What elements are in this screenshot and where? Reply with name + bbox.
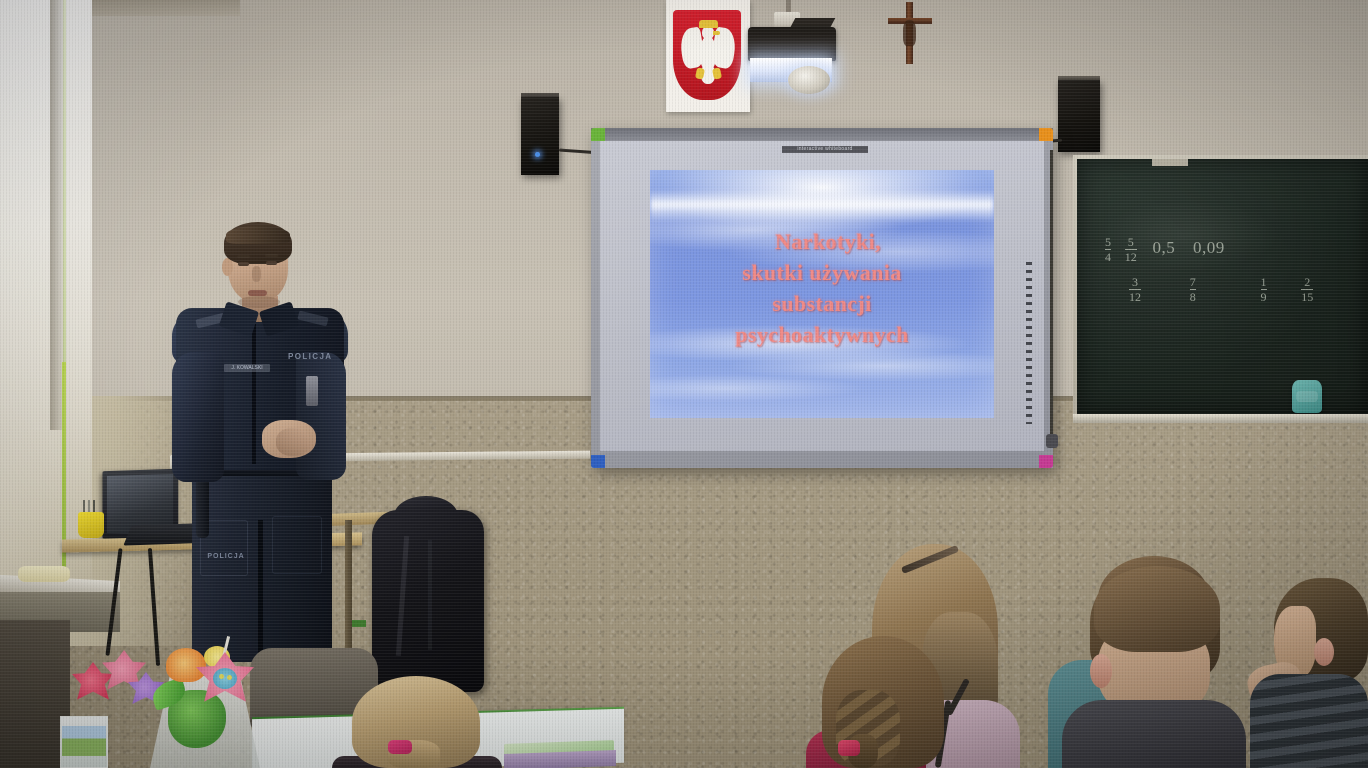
sill-object [18,566,70,582]
speaker-power-led-icon [535,152,540,157]
chalk-fraction-3: 3 12 [1129,276,1141,303]
officer-jacket-placket [252,324,256,464]
eagle-crown-icon [699,20,718,28]
officer-eye-right [266,261,277,265]
chalkboard-clip [1152,159,1188,166]
whiteboard-corner-blue [591,455,605,468]
eagle-beak-icon [713,31,720,35]
projector-body [748,27,836,61]
flower-center-dot-1 [219,674,224,679]
chalk-fraction-4: 7 8 [1190,276,1196,303]
officer-trouser-pocket-right [272,516,322,574]
classroom-photo: interactive whiteboard Narkotyki, skutki… [0,0,1368,768]
officer-eyebrow-left [237,255,250,258]
flower-center-dot-2 [227,675,232,680]
student-front-girl-hair-tie [388,740,412,754]
projected-slide: Narkotyki, skutki używania substancji ps… [650,170,994,418]
chalk-fraction-1: 5 4 [1105,236,1111,263]
notebook-purple[interactable] [504,750,616,768]
chalk-row-2: 3 12 7 8 1 9 2 15 [1124,276,1318,303]
slide-title-text: Narkotyki, skutki używania substancji ps… [650,226,994,350]
chalkboard-eraser[interactable] [1292,380,1322,413]
eagle-body-icon [700,36,716,70]
whiteboard-top-bezel [591,128,1053,141]
desk-foot [352,620,366,627]
chalkboard-math-notes: 5 4 5 12 0,5 0,09 3 12 7 8 1 9 [1100,236,1368,376]
whiteboard-sensor-strip [1026,262,1032,424]
whiteboard-logo-label: interactive whiteboard [782,146,868,153]
flower-center-badge [213,668,237,689]
slide-line-4: psychoaktywnych [650,319,994,350]
desk-leg [345,520,352,660]
officer-chin-shadow [238,296,280,308]
officer-arm-left [172,352,224,482]
student-boy-right-ear [1314,638,1334,666]
whiteboard-corner-magenta [1039,455,1053,468]
whiteboard-side-cable [1050,150,1053,440]
officer-nametag: J. KOWALSKI [224,364,270,372]
officer-leg-seam [258,520,263,662]
pencil-cup[interactable] [78,512,104,538]
projector-lens-icon [788,66,830,94]
officer-hair-fringe [226,226,290,244]
chalk-row-1: 5 4 5 12 0,5 0,09 [1100,236,1232,263]
chalk-decimal-2: 0,09 [1193,238,1225,258]
officer-nose [252,266,261,282]
jacket-fold-2 [428,540,432,650]
officer-hand-overlap [276,428,310,456]
officer-arm-right [296,352,346,480]
whiteboard-corner-orange [1039,128,1053,141]
green-accent-strip-upper [63,0,66,372]
officer-shoulder-patch: POLICJA [288,352,332,362]
student-boy-grey-body [1062,700,1246,768]
slide-line-1: Narkotyki, [650,226,994,257]
chalk-decimal-1: 0,5 [1153,238,1176,258]
chalk-fraction-2: 5 12 [1125,236,1137,263]
officer-eye-left [238,262,249,266]
officer-trouser-label: POLICJA [200,552,252,562]
whiteboard-corner-green [591,128,605,141]
slide-cloud-band [650,190,994,222]
whiteboard-pen-holder[interactable] [1046,434,1058,448]
slide-line-3: substancji [650,288,994,319]
officer-chest-equipment [306,376,318,406]
officer-eyebrow-right [265,254,278,257]
student-boy-ear [1090,654,1112,688]
window-light [0,0,92,600]
student-boy-striped-body [1250,674,1368,768]
chalk-fraction-6: 2 15 [1301,276,1313,303]
student-hair-tie [838,740,860,756]
speaker-right [1058,80,1100,152]
chalk-fraction-5: 1 9 [1261,276,1267,303]
photo-card-image [62,726,106,756]
student-boy-front-hair [1094,566,1220,652]
flower-orange [166,648,206,682]
chalkboard-tray [1073,414,1368,423]
slide-line-2: skutki używania [650,257,994,288]
speaker-left [521,97,559,175]
crucifix-figure [903,20,916,46]
